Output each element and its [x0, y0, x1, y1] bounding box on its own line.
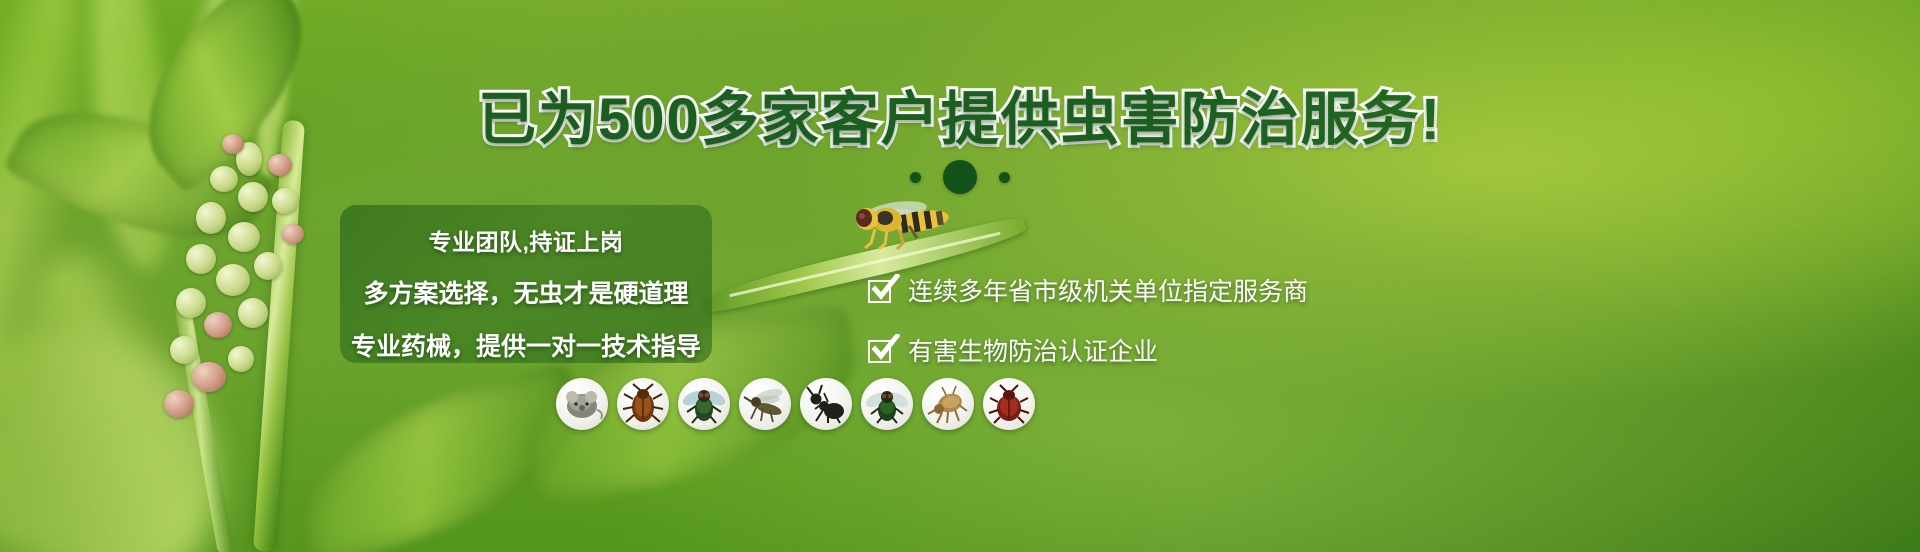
list-item: 有害生物防治认证企业	[868, 332, 1308, 368]
dot-small-icon	[999, 172, 1010, 183]
banner-headline: 已为500多家客户提供虫害防治服务!	[0, 72, 1920, 156]
credential-label: 有害生物防治认证企业	[908, 332, 1158, 368]
fly-icon	[678, 378, 730, 430]
selling-points-panel: 专业团队,持证上岗 多方案选择，无虫才是硬道理 专业药械，提供一对一技术指导	[340, 205, 712, 363]
selling-point-line-3: 专业药械，提供一对一技术指导	[340, 327, 712, 363]
credential-label: 连续多年省市级机关单位指定服务商	[908, 272, 1308, 308]
hoverfly-icon	[845, 198, 955, 250]
checkbox-checked-icon	[868, 277, 895, 304]
credentials-checklist: 连续多年省市级机关单位指定服务商 有害生物防治认证企业	[868, 272, 1308, 368]
mouse-icon	[556, 378, 608, 430]
promo-banner: 已为500多家客户提供虫害防治服务! 专业团队,持证上岗 多方案选择，无虫才是硬…	[0, 0, 1920, 552]
decorative-dots	[0, 160, 1920, 194]
flea-icon	[922, 378, 974, 430]
housefly-icon	[861, 378, 913, 430]
dot-small-icon	[910, 172, 921, 183]
selling-point-line-2: 多方案选择，无虫才是硬道理	[340, 274, 712, 310]
dot-large-icon	[943, 160, 977, 194]
checkbox-checked-icon	[868, 337, 895, 364]
bedbug-icon	[983, 378, 1035, 430]
ant-icon	[800, 378, 852, 430]
selling-point-line-1: 专业团队,持证上岗	[340, 223, 712, 257]
mosquito-icon	[739, 378, 791, 430]
pest-type-icons	[556, 378, 1035, 430]
list-item: 连续多年省市级机关单位指定服务商	[868, 272, 1308, 308]
cockroach-icon	[617, 378, 669, 430]
headline-text: 已为500多家客户提供虫害防治服务!	[478, 87, 1442, 152]
